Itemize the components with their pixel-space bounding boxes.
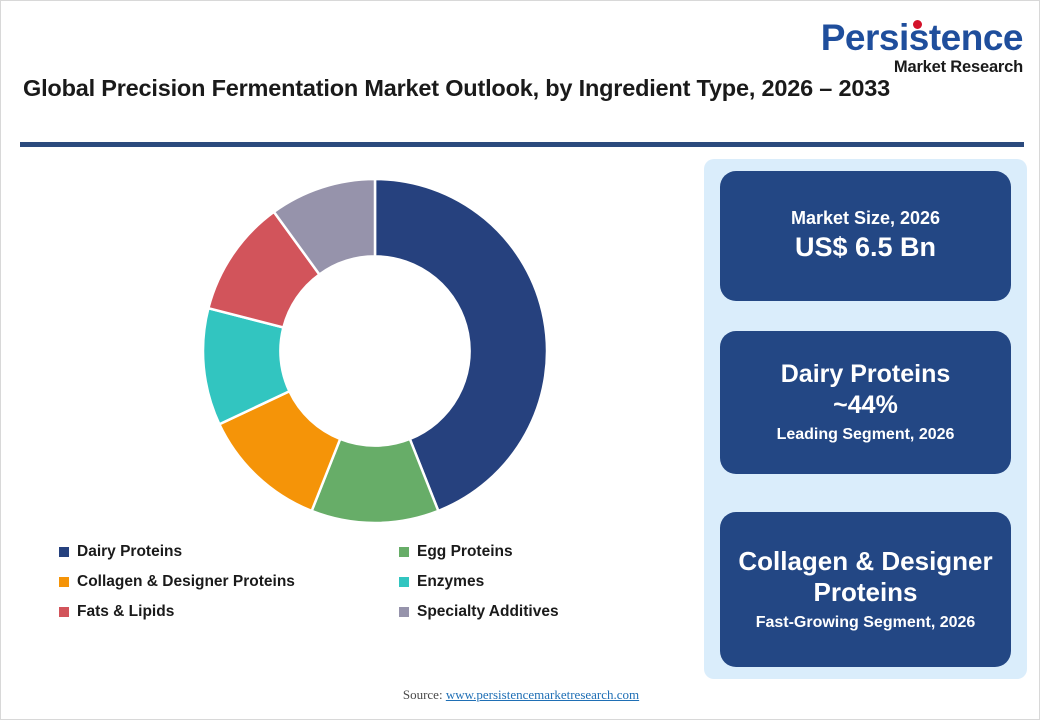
source-link[interactable]: www.persistencemarketresearch.com xyxy=(446,687,639,702)
legend-item: Fats & Lipids xyxy=(59,603,399,621)
legend-item-label: Fats & Lipids xyxy=(77,603,174,621)
market-size-card: Market Size, 2026 US$ 6.5 Bn xyxy=(720,171,1011,301)
title-divider xyxy=(20,142,1024,147)
source-label: Source: xyxy=(403,687,446,702)
leading-segment-title: Dairy Proteins xyxy=(781,360,951,390)
legend-item: Collagen & Designer Proteins xyxy=(59,573,399,591)
leading-segment-share: ~44% xyxy=(833,390,898,420)
legend-item-label: Enzymes xyxy=(417,573,484,591)
legend-item-label: Collagen & Designer Proteins xyxy=(77,573,295,591)
highlights-panel: Market Size, 2026 US$ 6.5 Bn Dairy Prote… xyxy=(704,159,1027,679)
legend-item-label: Egg Proteins xyxy=(417,543,513,561)
legend-item: Enzymes xyxy=(399,573,659,591)
legend-item-label: Specialty Additives xyxy=(417,603,559,621)
fast-growing-segment-subtitle: Fast-Growing Segment, 2026 xyxy=(756,613,976,633)
leading-segment-subtitle: Leading Segment, 2026 xyxy=(777,425,955,445)
donut-chart xyxy=(201,177,549,525)
legend-swatch-icon xyxy=(59,547,69,557)
leading-segment-card: Dairy Proteins ~44% Leading Segment, 202… xyxy=(720,331,1011,474)
legend-item: Dairy Proteins xyxy=(59,543,399,561)
chart-area: Dairy ProteinsEgg ProteinsCollagen & Des… xyxy=(1,151,691,681)
legend-swatch-icon xyxy=(59,577,69,587)
legend-item: Specialty Additives xyxy=(399,603,659,621)
market-size-value: US$ 6.5 Bn xyxy=(795,231,936,265)
brand-logo: Persistence Market Research xyxy=(821,19,1023,76)
brand-name-text: Persistence xyxy=(821,17,1023,58)
brand-dot-icon xyxy=(913,20,922,29)
page-title: Global Precision Fermentation Market Out… xyxy=(23,73,923,105)
infographic-page: Persistence Market Research Global Preci… xyxy=(0,0,1040,720)
brand-name: Persistence xyxy=(821,19,1023,56)
legend-item: Egg Proteins xyxy=(399,543,659,561)
donut-chart-svg xyxy=(201,177,549,525)
fast-growing-segment-card: Collagen & Designer Proteins Fast-Growin… xyxy=(720,512,1011,667)
legend-swatch-icon xyxy=(399,577,409,587)
legend-item-label: Dairy Proteins xyxy=(77,543,182,561)
legend-swatch-icon xyxy=(399,547,409,557)
fast-growing-segment-title: Collagen & Designer Proteins xyxy=(720,546,1011,608)
legend-swatch-icon xyxy=(399,607,409,617)
market-size-label: Market Size, 2026 xyxy=(791,207,940,230)
legend-swatch-icon xyxy=(59,607,69,617)
chart-legend: Dairy ProteinsEgg ProteinsCollagen & Des… xyxy=(59,543,659,621)
source-line: Source: www.persistencemarketresearch.co… xyxy=(1,687,1040,703)
